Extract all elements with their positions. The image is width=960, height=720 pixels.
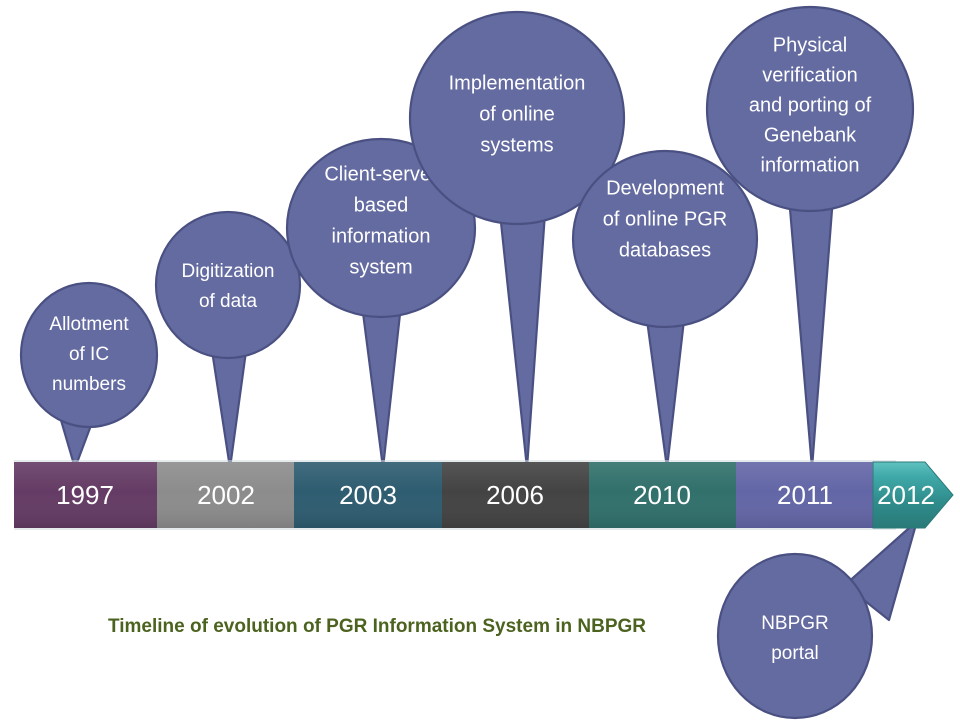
- tail-2011: [789, 197, 833, 468]
- year-label-2002: 2002: [197, 480, 255, 510]
- year-label-1997: 1997: [56, 480, 114, 510]
- bar-sheen: [14, 462, 873, 528]
- year-label-2010: 2010: [633, 480, 691, 510]
- callout-2002-line-1: Digitization: [182, 261, 275, 282]
- callout-bubbles: Allotment of IC numbers Digitization of …: [21, 7, 913, 718]
- callout-2012[interactable]: NBPGR portal: [718, 554, 872, 718]
- diagram-caption: Timeline of evolution of PGR Information…: [108, 616, 646, 637]
- callout-2002[interactable]: Digitization of data: [156, 212, 300, 358]
- callout-2003-line-3: information: [332, 225, 431, 247]
- tail-2010: [647, 320, 684, 468]
- callout-2011[interactable]: Physical verification and porting of Gen…: [707, 7, 913, 211]
- year-label-2012: 2012: [877, 480, 935, 510]
- callout-2003-line-4: system: [349, 256, 412, 278]
- callout-2011-line-5: information: [761, 154, 860, 176]
- callout-2010-line-3: databases: [619, 239, 711, 261]
- callout-2011-line-1: Physical: [773, 34, 847, 56]
- callout-2010-line-1: Development: [606, 177, 724, 199]
- callout-2012-line-2: portal: [771, 643, 819, 664]
- callout-2002-shape[interactable]: [156, 212, 300, 358]
- callout-2011-line-2: verification: [762, 64, 858, 86]
- callout-1997[interactable]: Allotment of IC numbers: [21, 283, 157, 427]
- callout-2002-line-2: of data: [199, 291, 258, 312]
- year-label-2011: 2011: [777, 480, 833, 510]
- callout-2010[interactable]: Development of online PGR databases: [573, 151, 757, 327]
- callout-2006-line-1: Implementation: [449, 72, 586, 94]
- tail-2002: [211, 344, 247, 468]
- callout-1997-line-1: Allotment: [49, 314, 129, 335]
- timeline-diagram: 1997 2002 2003 2006 2010 2011 2012 Allot…: [0, 0, 960, 720]
- callout-1997-line-3: numbers: [52, 374, 126, 395]
- callout-2003-line-2: based: [354, 194, 409, 216]
- timeline-bar: 1997 2002 2003 2006 2010 2011 2012: [14, 460, 953, 530]
- tail-2003: [362, 305, 401, 468]
- year-label-2003: 2003: [339, 480, 397, 510]
- callout-2010-line-2: of online PGR: [603, 208, 728, 230]
- callout-2011-line-3: and porting of: [749, 94, 872, 116]
- callout-2012-shape[interactable]: [718, 554, 872, 718]
- timeline-canvas: 1997 2002 2003 2006 2010 2011 2012 Allot…: [0, 0, 960, 720]
- year-label-2006: 2006: [486, 480, 544, 510]
- callout-2006-line-2: of online: [479, 103, 555, 125]
- tail-2006: [500, 213, 545, 468]
- callout-2011-line-4: Genebank: [764, 124, 857, 146]
- callout-2012-line-1: NBPGR: [761, 613, 829, 634]
- callout-2006-line-3: systems: [480, 134, 553, 156]
- callout-1997-line-2: of IC: [69, 344, 109, 365]
